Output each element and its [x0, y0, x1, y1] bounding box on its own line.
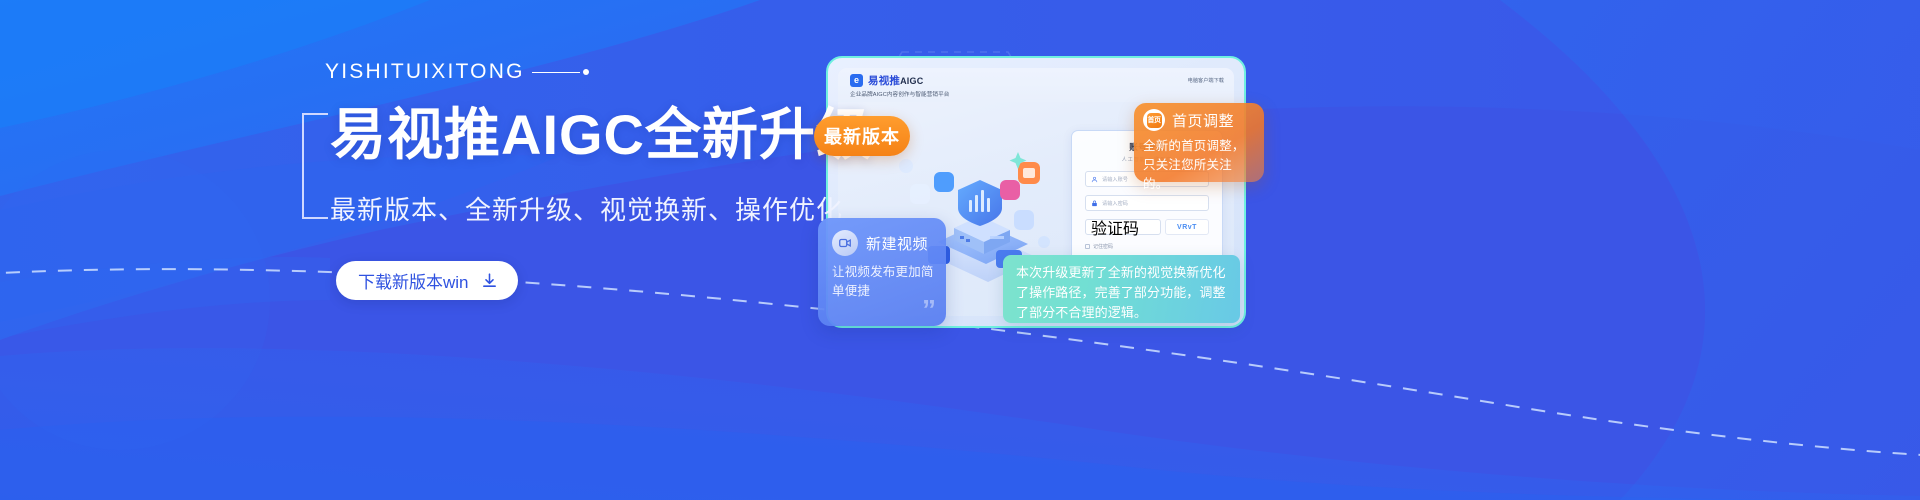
- eyebrow-label: YISHITUIXITONG: [325, 60, 589, 84]
- captcha-text: VRvT: [1177, 224, 1197, 231]
- bracket-decoration: [302, 113, 328, 219]
- eyebrow-line: [532, 72, 580, 73]
- callout-home-adjust-body: 全新的首页调整，只关注您所关注的。: [1143, 137, 1255, 193]
- captcha-image[interactable]: VRvT: [1165, 219, 1209, 235]
- eyebrow-dot: [583, 69, 589, 75]
- page-subtitle: 最新版本、全新升级、视觉换新、操作优化: [330, 190, 843, 227]
- callout-new-video-title: 新建视频: [866, 233, 928, 254]
- remember-checkbox[interactable]: [1085, 244, 1090, 249]
- promo-banner: YISHITUIXITONG 易视推AIGC全新升级 最新版本、全新升级、视觉换…: [0, 0, 1920, 500]
- lock-icon: [1091, 200, 1098, 207]
- user-icon: [1091, 176, 1098, 183]
- quote-mark-icon: ”: [922, 296, 936, 324]
- callout-update-note-body: 本次升级更新了全新的视觉换新优化了操作路径，完善了部分功能，调整了部分不合理的逻…: [1016, 263, 1227, 323]
- client-download-link[interactable]: 电脑客户端下载: [1188, 77, 1224, 84]
- home-icon: 首页: [1143, 109, 1165, 131]
- remember-password-row[interactable]: 记住密码: [1085, 243, 1209, 250]
- callout-new-video: 新建视频 让视频发布更加简单便捷 ”: [818, 218, 946, 326]
- remember-label: 记住密码: [1093, 243, 1113, 250]
- home-icon-label: 首页: [1147, 113, 1162, 128]
- password-field[interactable]: 请输入密码: [1085, 195, 1209, 211]
- callout-update-note: 本次升级更新了全新的视觉换新优化了操作路径，完善了部分功能，调整了部分不合理的逻…: [1003, 255, 1240, 323]
- callout-home-adjust-title: 首页调整: [1172, 110, 1234, 131]
- video-icon: [832, 230, 858, 256]
- callout-new-video-header: 新建视频: [832, 230, 934, 256]
- eyebrow-text: YISHITUIXITONG: [325, 60, 525, 84]
- download-icon: [481, 272, 498, 289]
- version-badge: 最新版本: [814, 116, 910, 156]
- callout-home-adjust: 首页 首页调整 全新的首页调整，只关注您所关注的。: [1134, 103, 1264, 182]
- password-placeholder: 请输入密码: [1102, 200, 1128, 207]
- captcha-row: 验证码 VRvT: [1085, 219, 1209, 235]
- account-placeholder: 请输入账号: [1102, 176, 1128, 183]
- captcha-field[interactable]: 验证码: [1085, 219, 1161, 235]
- callout-home-adjust-header: 首页 首页调整: [1143, 109, 1255, 131]
- download-button[interactable]: 下载新版本win: [336, 261, 518, 300]
- captcha-placeholder: 验证码: [1091, 215, 1139, 239]
- callout-new-video-body: 让视频发布更加简单便捷: [832, 263, 934, 302]
- download-button-label: 下载新版本win: [358, 268, 469, 293]
- page-title: 易视推AIGC全新升级: [330, 104, 873, 167]
